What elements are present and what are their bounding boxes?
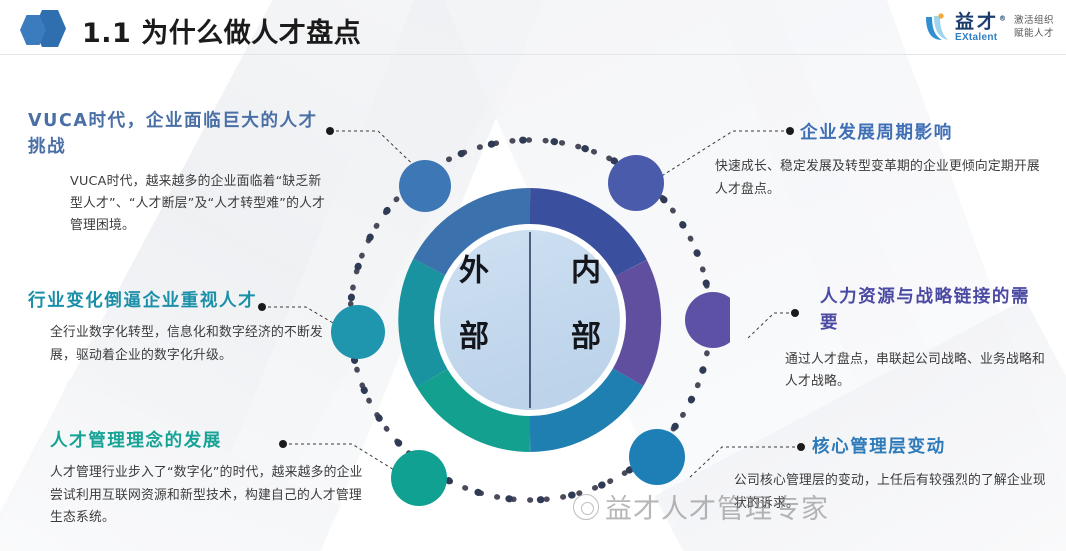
donut-segment-left xyxy=(418,268,434,377)
satellite-bottom-right xyxy=(629,429,685,485)
logo-tagline-line2: 赋能人才 xyxy=(1014,28,1054,41)
block-core-management-change-heading: 核心管理层变动 xyxy=(812,434,1052,460)
label-inner-char1: 内 xyxy=(571,254,601,289)
central-diagram: 外 部 内 部 xyxy=(330,120,730,520)
block-growth-cycle-body: 快速成长、稳定发展及转型变革期的企业更倾向定期开展人才盘点。 xyxy=(715,156,1045,201)
block-hr-strategy-link: 人力资源与战略链接的需要 通过人才盘点，串联起公司战略、业务战略和人才战略。 xyxy=(820,284,1040,393)
label-inner-char2: 部 xyxy=(571,320,601,355)
satellite-top-left xyxy=(399,160,451,212)
block-vuca: VUCA时代，企业面临巨大的人才挑战 VUCA时代，越来越多的企业面临着“缺乏新… xyxy=(28,108,328,238)
satellite-left xyxy=(331,305,385,359)
satellite-bottom-left xyxy=(391,450,447,506)
page-title: 1.1 为什么做人才盘点 xyxy=(82,11,361,50)
donut-segment-right xyxy=(626,269,641,376)
header-divider xyxy=(0,54,1066,55)
watermark: 益才人才管理专家 xyxy=(573,487,829,526)
watermark-logo-icon xyxy=(573,494,599,520)
watermark-text: 益才人才管理专家 xyxy=(605,487,829,526)
brand-logo: 益才® EXtalent 激活组织 赋能人才 xyxy=(922,8,1054,48)
block-talent-concept-body: 人才管理行业步入了“数字化”的时代，越来越多的企业尝试利用互联网资源和新型技术，… xyxy=(50,462,368,529)
slide-canvas: 1.1 为什么做人才盘点 益才® EXtalent 激活组织 赋能人才 xyxy=(0,0,1066,551)
block-industry-change-heading: 行业变化倒逼企业重视人才 xyxy=(28,288,308,314)
block-hr-strategy-link-heading: 人力资源与战略链接的需要 xyxy=(820,284,1040,337)
satellite-right xyxy=(685,292,730,348)
block-talent-concept: 人才管理理念的发展 人才管理行业步入了“数字化”的时代，越来越多的企业尝试利用互… xyxy=(50,428,370,529)
block-industry-change: 行业变化倒逼企业重视人才 全行业数字化转型，信息化和数字经济的不断发展，驱动着企… xyxy=(28,288,308,367)
block-vuca-body: VUCA时代，越来越多的企业面临着“缺乏新型人才”、“人才断层”及“人才转型难”… xyxy=(70,171,332,238)
label-outer-char1: 外 xyxy=(459,254,489,289)
satellite-top-right xyxy=(608,155,664,211)
logo-english-name: EXtalent xyxy=(955,32,1009,43)
block-hr-strategy-link-body: 通过人才盘点，串联起公司战略、业务战略和人才战略。 xyxy=(785,349,1050,394)
block-growth-cycle: 企业发展周期影响 快速成长、稳定发展及转型变革期的企业更倾向定期开展人才盘点。 xyxy=(800,120,1050,201)
logo-chinese-name: 益才® xyxy=(955,13,1009,32)
hexagon-icon xyxy=(12,9,74,49)
logo-registered-mark: ® xyxy=(999,15,1009,23)
block-growth-cycle-heading: 企业发展周期影响 xyxy=(800,120,1050,146)
logo-tagline-line1: 激活组织 xyxy=(1014,15,1054,28)
label-outer-char2: 部 xyxy=(459,320,489,355)
block-talent-concept-heading: 人才管理理念的发展 xyxy=(50,428,370,454)
block-industry-change-body: 全行业数字化转型，信息化和数字经济的不断发展，驱动着企业的数字化升级。 xyxy=(50,322,330,367)
logo-swoosh-icon xyxy=(922,13,950,43)
block-vuca-heading: VUCA时代，企业面临巨大的人才挑战 xyxy=(28,108,328,161)
block-core-management-change: 核心管理层变动 公司核心管理层的变动，上任后有较强烈的了解企业现状的诉求。 xyxy=(812,434,1052,515)
logo-cn-text: 益才 xyxy=(955,11,999,33)
